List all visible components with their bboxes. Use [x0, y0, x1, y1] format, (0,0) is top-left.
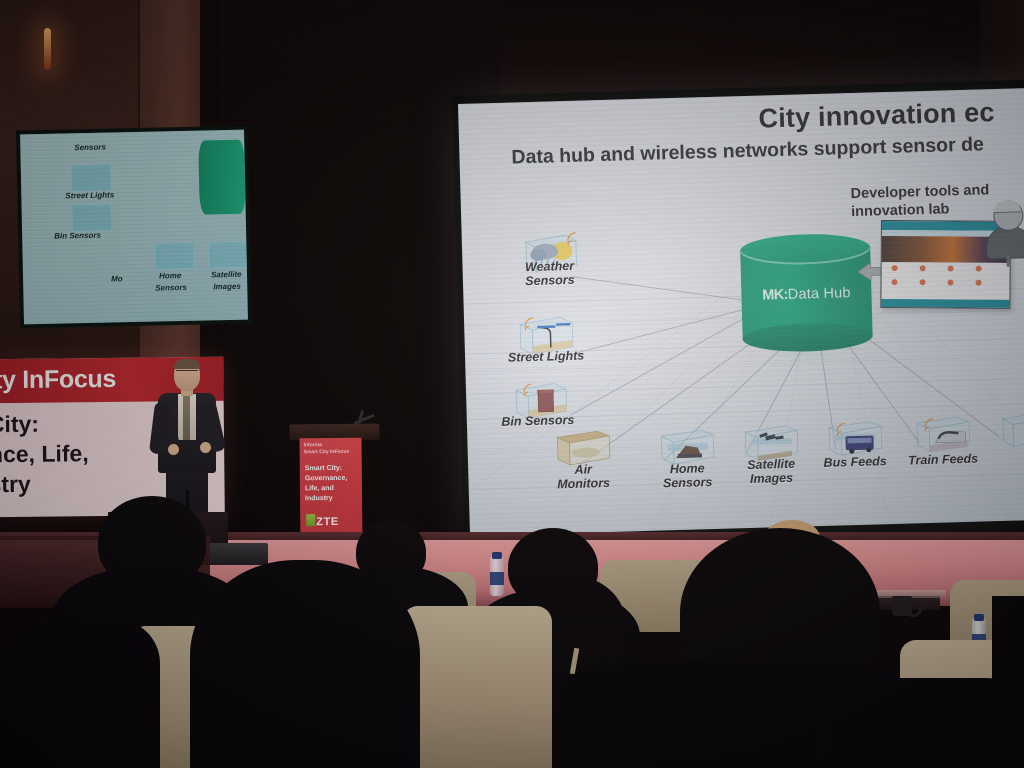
label-weather-1: Weather [525, 259, 574, 274]
cube-partial-right [997, 410, 1024, 453]
hub-label-text: Data Hub [788, 285, 851, 303]
cube-label-air-monitors: Air Monitors [546, 462, 621, 492]
cube-bin-sensors: Bin Sensors [510, 379, 571, 423]
partial-cube-icon [997, 410, 1024, 453]
cube-label-weather: Weather Sensors [514, 259, 585, 289]
train-feed-icon [911, 414, 974, 458]
label-weather-2: Sensors [525, 273, 575, 288]
attendee-silhouette [190, 560, 420, 768]
cube-label-street-lights: Street Lights [501, 348, 591, 365]
wall-sconce-light [44, 28, 51, 70]
label-air-2: Monitors [557, 476, 610, 491]
developer-tools-line2: innovation lab [851, 201, 950, 220]
zte-logo-mark [306, 514, 315, 526]
developer-tools-line1: Developer tools and [850, 182, 989, 202]
side-projection-screen: Sensors Street Lights Bin Sensors Mo Hom… [20, 130, 248, 325]
projection-screen: City innovation ec Data hub and wireless… [458, 88, 1024, 536]
water-bottle-cap [492, 552, 502, 559]
presenter-right-hand [200, 442, 211, 453]
label-home-2: Sensors [663, 475, 713, 490]
person-stand [1006, 255, 1009, 267]
cube-home-sensors: Home Sensors [655, 427, 718, 471]
presenter-left-hand [168, 444, 179, 455]
label-air-1: Air [574, 462, 592, 476]
coffee-mug-handle [910, 600, 922, 617]
browser-dot-grid [887, 265, 1003, 294]
banner-line-3: ustry [0, 471, 31, 499]
lectern-brand-2: Smart City InFocus [304, 449, 350, 455]
label-home-1: Home [670, 461, 705, 476]
browser-bottom-bar [881, 299, 1009, 308]
banner-header-text: ity InFocus [0, 365, 116, 395]
banner-line-2: ance, Life, [0, 440, 89, 468]
person-body [986, 226, 1024, 259]
cube-train-feeds: Train Feeds [911, 414, 974, 458]
cube-satellite-images: Satellite Images [739, 423, 802, 467]
attendee-silhouette [992, 596, 1024, 716]
chair-foreground [402, 606, 552, 768]
water-bottle-cap [974, 614, 984, 621]
presenter-tie [183, 396, 190, 440]
cube-bus-feeds: Bus Feeds [823, 418, 886, 462]
cube-label-train-feeds: Train Feeds [900, 451, 986, 467]
person-hair [993, 200, 1021, 213]
attendee-silhouette [0, 618, 160, 768]
cube-street-lights: Street Lights [512, 313, 577, 359]
cube-label-satellite-images: Satellite Images [734, 456, 809, 486]
cube-air-monitors: Air Monitors [551, 428, 614, 472]
lectern-brand: Informa Smart City InFocus [304, 442, 350, 456]
developer-tools-label: Developer tools and innovation lab [850, 181, 990, 221]
banner-line-1: City: [0, 411, 39, 439]
conference-photo: Sensors Street Lights Bin Sensors Mo Hom… [0, 0, 1024, 768]
cube-weather-sensors: Weather Sensors [518, 229, 581, 275]
developer-person-icon [985, 200, 1024, 263]
data-hub-cylinder: MK:Data Hub [740, 233, 873, 355]
label-sat-1: Satellite [747, 457, 795, 472]
presenter-hair [174, 359, 200, 369]
lectern-brand-1: Informa [304, 442, 322, 448]
label-sat-2: Images [750, 471, 793, 486]
hub-logo-mark: MK: [762, 287, 788, 304]
water-bottle-label [490, 572, 504, 585]
slide-title: City innovation ec [758, 97, 995, 135]
cube-label-bus-feeds: Bus Feeds [812, 454, 898, 470]
attendee-silhouette [560, 660, 820, 768]
lectern-title: Smart City: Governance, Life, and Indust… [305, 464, 359, 505]
zte-logo-text: ZTE [316, 516, 339, 528]
coffee-mug [892, 596, 912, 616]
presenter-glasses [176, 370, 198, 375]
side-screen-scanlines [20, 130, 248, 325]
cube-label-bin-sensors: Bin Sensors [493, 413, 583, 430]
cube-label-home-sensors: Home Sensors [650, 461, 725, 491]
